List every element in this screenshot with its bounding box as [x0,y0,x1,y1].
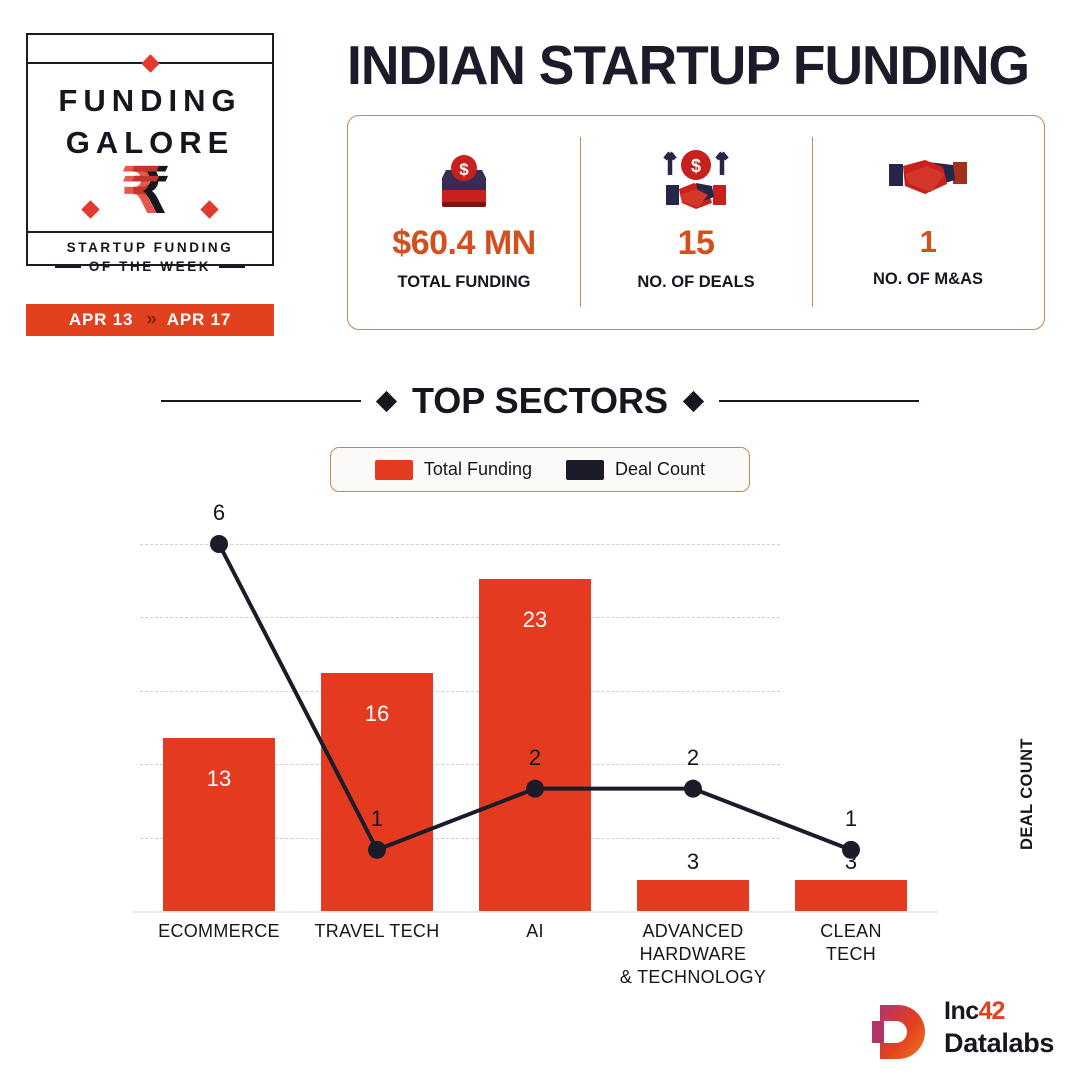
inc42-logo-mark-icon [872,1001,932,1063]
deal-count-line [219,544,851,850]
deal-handshake-icon: $ [656,142,736,218]
inc42-datalabs-logo: Inc42 Datalabs [872,995,1062,1071]
stat-value-no-of-mas: 1 [920,224,937,260]
rupee-symbol-icon: ₹ ₹ [28,161,272,223]
badge-title-line1: FUNDING [28,83,272,119]
legend-swatch-deal-count [566,460,604,480]
chart-baseline-axis [132,911,938,913]
chart-line-series [140,544,930,911]
logo-datalabs-text: Datalabs [944,1028,1054,1059]
line-data-point [842,841,860,859]
stat-no-of-mas: 1 NO. OF M&AS [812,116,1044,329]
stat-label-no-of-deals: NO. OF DEALS [637,273,754,292]
stat-value-total-funding: $60.4 MN [392,224,535,263]
logo-line-inc42: Inc42 [944,997,1054,1026]
x-axis-category-line: ECOMMERCE [134,920,304,943]
handshake-icon [885,142,971,218]
svg-text:$: $ [691,156,701,176]
top-sectors-chart: 0510152025 0246 13162333 61221 ECOMMERCE… [0,520,1080,1000]
header-section: FUNDING GALORE ₹ ₹ STARTUP FUNDING OF TH… [0,0,1080,350]
page-title: INDIAN STARTUP FUNDING [347,32,1026,98]
double-chevron-right-icon: » [146,309,154,331]
x-axis-category-label: AI [450,920,620,943]
date-from: APR 13 [69,310,133,330]
section-heading-top-sectors: TOP SECTORS [0,375,1080,427]
stat-total-funding: $ $60.4 MN TOTAL FUNDING [348,116,580,329]
badge-title-line2: GALORE [28,125,272,161]
date-to: APR 17 [167,310,231,330]
line-point-label: 2 [663,745,723,771]
line-data-point [684,780,702,798]
badge-subtitle-rule-right [219,266,245,268]
chart-legend: Total Funding Deal Count [330,447,750,492]
line-data-point [368,841,386,859]
stat-value-no-of-deals: 15 [678,224,715,263]
x-axis-category-label: ECOMMERCE [134,920,304,943]
line-point-label: 1 [347,806,407,832]
chart-y-axis-right-label: DEAL COUNT [1018,650,1037,850]
diamond-icon [141,54,159,72]
x-axis-category-label: ADVANCEDHARDWARE& TECHNOLOGY [608,920,778,989]
chart-plot-area: 0510152025 0246 13162333 61221 ECOMMERCE… [140,544,930,911]
x-axis-category-line: AI [450,920,620,943]
logo-42-text: 42 [979,997,1005,1025]
legend-label-deal-count: Deal Count [615,459,705,480]
line-point-label: 1 [821,806,881,832]
legend-item-total-funding: Total Funding [375,459,532,480]
x-axis-category-line: CLEAN [766,920,936,943]
stats-card: $ $60.4 MN TOTAL FUNDING $ [347,115,1045,330]
x-axis-category-line: HARDWARE [608,943,778,966]
line-data-point [526,780,544,798]
diamond-right-icon [683,390,704,411]
badge-subtitle-rule-left [55,266,81,268]
x-axis-category-line: TRAVEL TECH [292,920,462,943]
diamond-left-icon [376,390,397,411]
money-bag-icon: $ [430,142,498,218]
date-range-banner: APR 13 » APR 17 [26,304,274,336]
x-axis-category-label: CLEANTECH [766,920,936,966]
badge-subtitle-line2: OF THE WEEK [89,259,211,274]
section-title: TOP SECTORS [412,380,668,422]
badge-subtitle-row: OF THE WEEK [28,259,272,274]
x-axis-category-line: TECH [766,943,936,966]
stat-label-no-of-mas: NO. OF M&AS [873,270,983,289]
funding-galore-badge: FUNDING GALORE ₹ ₹ STARTUP FUNDING OF TH… [26,33,274,266]
svg-text:$: $ [459,160,469,179]
x-axis-category-label: TRAVEL TECH [292,920,462,943]
legend-label-total-funding: Total Funding [424,459,532,480]
legend-item-deal-count: Deal Count [566,459,705,480]
heading-rule-left [161,400,361,402]
legend-swatch-total-funding [375,460,413,480]
stat-no-of-deals: $ 15 NO. OF DEALS [580,116,812,329]
line-point-label: 2 [505,745,565,771]
stat-label-total-funding: TOTAL FUNDING [398,273,531,292]
heading-rule-right [719,400,919,402]
line-data-point [210,535,228,553]
x-axis-category-line: ADVANCED [608,920,778,943]
x-axis-category-line: & TECHNOLOGY [608,966,778,989]
rupee-symbol-shadow: ₹ [19,161,263,223]
logo-inc-text: Inc [944,997,979,1025]
badge-subtitle-line1: STARTUP FUNDING [28,240,272,255]
badge-bottom-divider [28,231,272,233]
inc42-logo-text: Inc42 Datalabs [944,997,1054,1059]
line-point-label: 6 [189,500,249,526]
